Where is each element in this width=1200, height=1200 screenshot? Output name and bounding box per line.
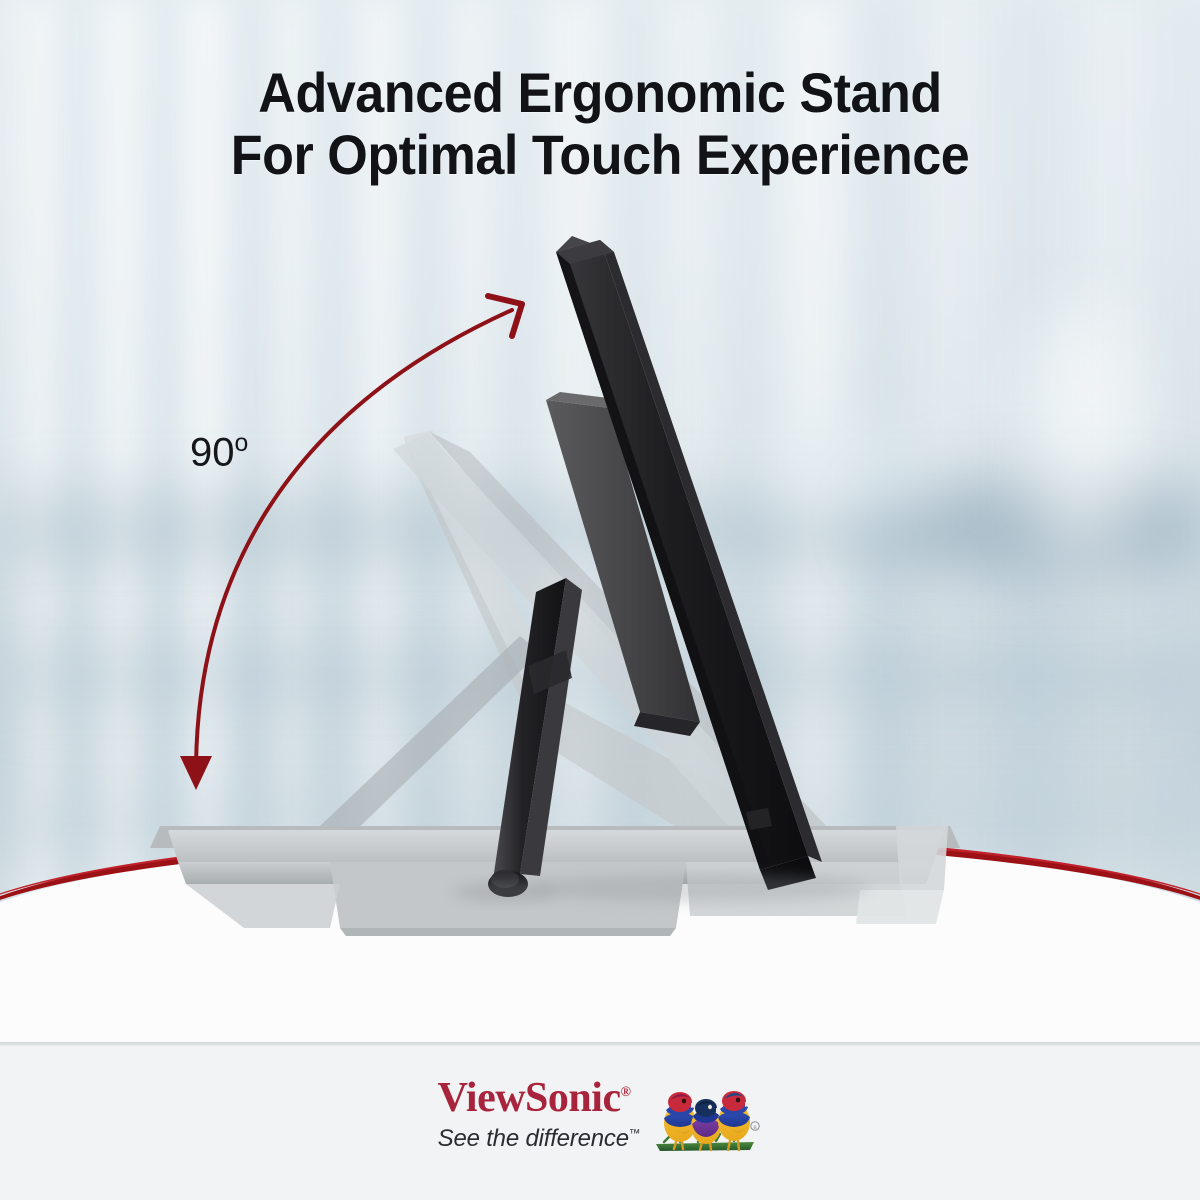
hero-image: Advanced Ergonomic Stand For Optimal Tou… bbox=[0, 0, 1200, 1045]
product-banner: Advanced Ergonomic Stand For Optimal Tou… bbox=[0, 0, 1200, 1200]
tagline-text: See the difference bbox=[438, 1125, 629, 1152]
finch-right bbox=[718, 1091, 754, 1150]
registered-trademark-icon: ® bbox=[621, 1084, 631, 1099]
brand-tagline: See the difference™ bbox=[438, 1125, 641, 1153]
svg-text:R: R bbox=[754, 1125, 758, 1131]
viewsonic-logo: ViewSonic® See the difference™ bbox=[0, 1076, 1200, 1154]
angle-label: 90o bbox=[190, 430, 248, 475]
gouldian-finches-icon: R bbox=[650, 1076, 762, 1154]
title-line-2: For Optimal Touch Experience bbox=[42, 124, 1158, 186]
title-line-1: Advanced Ergonomic Stand bbox=[258, 61, 941, 124]
brand-wordmark: ViewSonic® bbox=[438, 1077, 641, 1119]
brand-name: ViewSonic bbox=[438, 1075, 621, 1121]
trademark-icon: ™ bbox=[629, 1128, 641, 1140]
logo-lockup-text: ViewSonic® See the difference™ bbox=[438, 1077, 641, 1153]
page-title: Advanced Ergonomic Stand For Optimal Tou… bbox=[42, 62, 1158, 185]
degree-icon: o bbox=[235, 430, 249, 457]
angle-value: 90 bbox=[190, 430, 235, 474]
